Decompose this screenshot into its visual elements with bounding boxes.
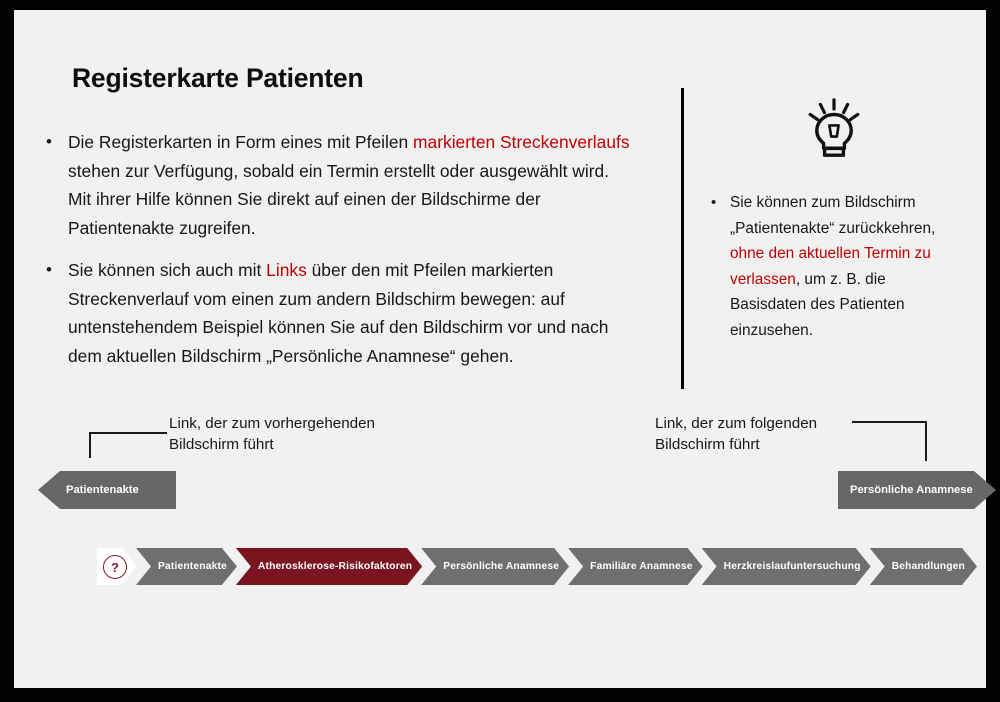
breadcrumb-step[interactable]: Familiäre Anamnese [568, 548, 702, 585]
bullet-marker: • [46, 128, 68, 157]
connector-horizontal-segment [852, 421, 927, 423]
connector-horizontal-segment [89, 432, 167, 434]
connector-vertical-segment [925, 421, 927, 461]
help-icon[interactable]: ? [103, 555, 127, 579]
breadcrumb-step-label: Patientenakte [158, 561, 227, 572]
connector-line-previous [89, 432, 167, 458]
bullet-marker: • [46, 256, 68, 285]
annotation-next-link: Link, der zum folgenden Bildschirm führt [655, 413, 885, 455]
tip-text: Sie können zum Bildschirm „Patientenakte… [730, 190, 966, 343]
next-screen-link-label: Persönliche Anamnese [850, 484, 973, 496]
text-segment-0: Die Registerkarten in Form eines mit Pfe… [68, 132, 413, 152]
breadcrumb-step[interactable]: Patientenakte [136, 548, 237, 585]
bullet-text: Sie können sich auch mit Links über den … [68, 256, 646, 370]
bullet-item-1: • Die Registerkarten in Form eines mit P… [46, 128, 631, 242]
slide-canvas: Registerkarte Patienten • Die Registerka… [14, 10, 986, 688]
bullet-text: Die Registerkarten in Form eines mit Pfe… [68, 128, 631, 242]
connector-vertical-segment [89, 432, 91, 458]
bullet-marker: • [711, 190, 730, 216]
text-segment-1: Links [266, 260, 307, 280]
text-segment-2: stehen zur Verfügung, sobald ein Termin … [68, 161, 609, 238]
breadcrumb: ? PatientenakteAtherosklerose-Risikofakt… [97, 548, 976, 585]
lightbulb-icon [806, 98, 862, 160]
slide-frame: Registerkarte Patienten • Die Registerka… [0, 0, 1000, 702]
previous-screen-link-label: Patientenakte [66, 484, 139, 496]
breadcrumb-step[interactable]: Persönliche Anamnese [421, 548, 569, 585]
breadcrumb-step-label: Atherosklerose-Risikofaktoren [258, 561, 412, 572]
bullet-item-2: • Sie können sich auch mit Links über de… [46, 256, 646, 370]
annotation-previous-link: Link, der zum vorhergehenden Bildschirm … [169, 413, 419, 455]
vertical-divider [681, 88, 684, 389]
tip-callout: • Sie können zum Bildschirm „Patientenak… [711, 190, 966, 343]
breadcrumb-help-chevron[interactable]: ? [97, 548, 137, 585]
next-screen-link-tag[interactable]: Persönliche Anamnese [838, 471, 996, 509]
text-segment-0: Sie können sich auch mit [68, 260, 266, 280]
page-title: Registerkarte Patienten [72, 63, 363, 94]
text-segment-1: markierten Streckenverlaufs [413, 132, 630, 152]
breadcrumb-step-label: Herzkreislaufuntersuchung [724, 561, 861, 572]
breadcrumb-step-label: Persönliche Anamnese [443, 561, 559, 572]
breadcrumb-step[interactable]: Herzkreislaufuntersuchung [702, 548, 871, 585]
breadcrumb-step[interactable]: Behandlungen [870, 548, 977, 585]
text-segment-0: Sie können zum Bildschirm „Patientenakte… [730, 194, 935, 237]
breadcrumb-step[interactable]: Atherosklerose-Risikofaktoren [236, 548, 422, 585]
breadcrumb-step-label: Familiäre Anamnese [590, 561, 692, 572]
connector-line-next [852, 421, 927, 461]
previous-screen-link-tag[interactable]: Patientenakte [38, 471, 176, 509]
breadcrumb-step-label: Behandlungen [892, 561, 965, 572]
